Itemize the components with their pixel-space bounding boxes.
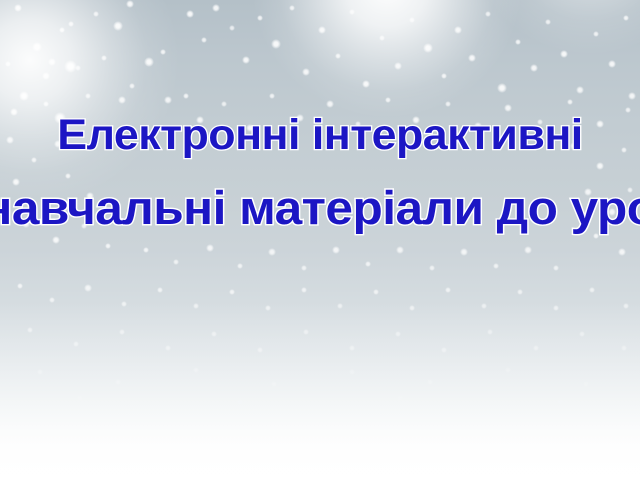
title-line-1: Електронні інтерактивні — [0, 110, 640, 160]
title-line-2: навчальні матеріали до уроку — [0, 181, 640, 235]
slide-title: Електронні інтерактивні навчальні матері… — [0, 0, 640, 480]
title-slide: Електронні інтерактивні навчальні матері… — [0, 0, 640, 480]
